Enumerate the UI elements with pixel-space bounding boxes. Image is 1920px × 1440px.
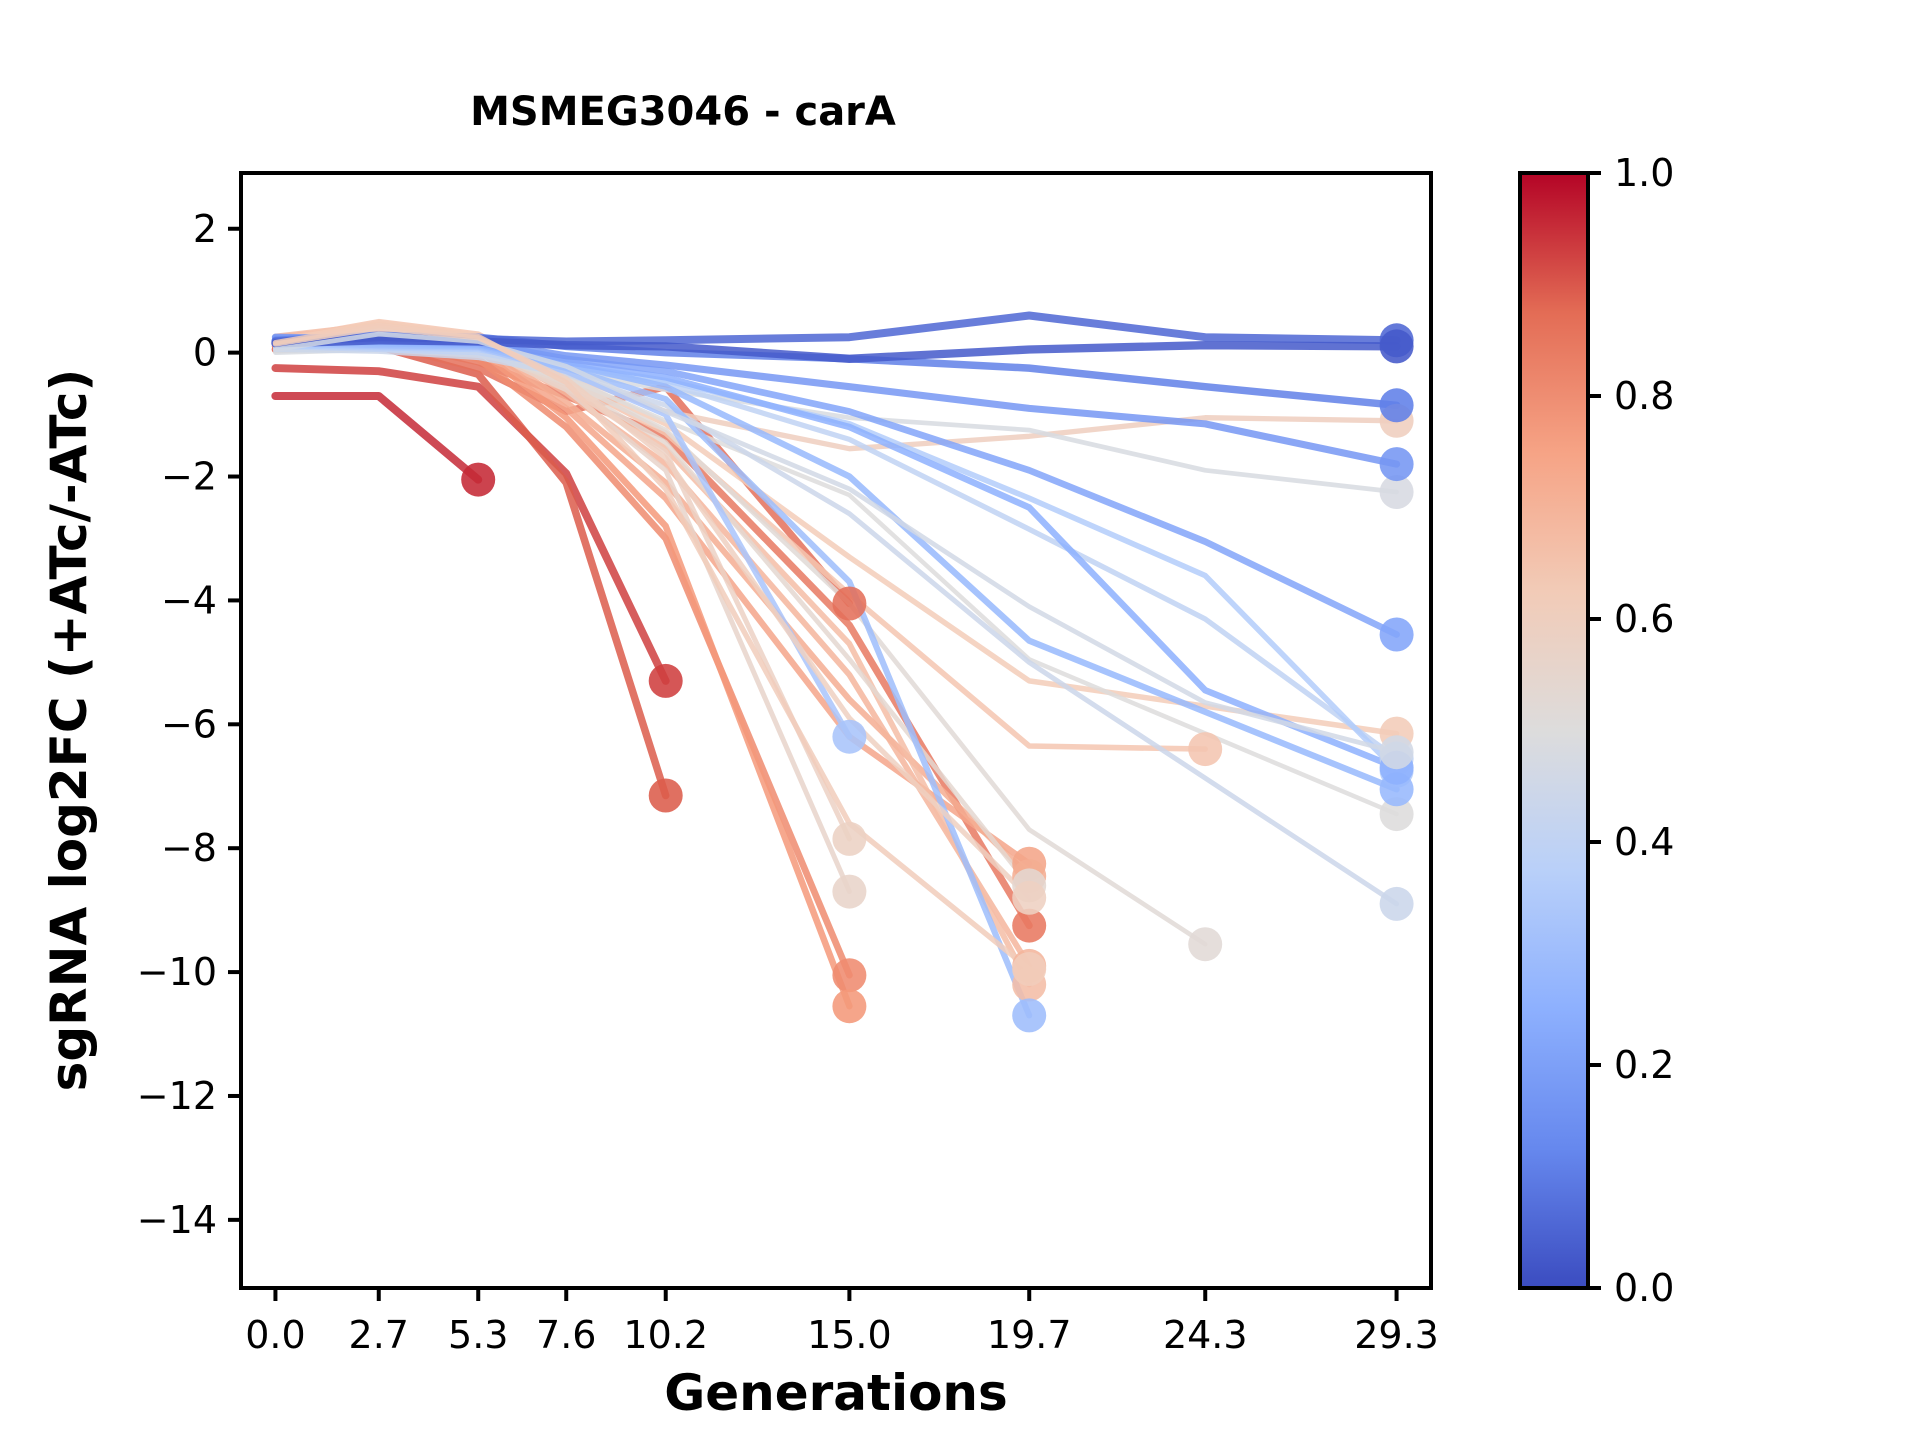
y-tick-label: −2 [161,455,217,499]
x-tick-label: 2.7 [349,1313,409,1357]
series-end-marker [1188,732,1222,766]
y-tick-label: −14 [137,1198,217,1242]
x-tick-label: 10.2 [623,1313,708,1357]
series-end-marker [1380,329,1414,363]
series-end-marker [1012,998,1046,1032]
colorbar-gradient[interactable] [1520,173,1588,1288]
colorbar-tick-label: 0.8 [1614,374,1674,418]
series-end-marker [832,989,866,1023]
x-tick-label: 15.0 [807,1313,892,1357]
series-end-marker [832,875,866,909]
colorbar-tick-label: 0.6 [1614,597,1674,641]
series-end-marker [832,587,866,621]
y-tick-label: −4 [161,578,217,622]
x-tick-label: 24.3 [1163,1313,1248,1357]
colorbar-tick-label: 0.0 [1614,1266,1674,1310]
x-tick-label: 7.6 [536,1313,596,1357]
x-tick-label: 19.7 [987,1313,1072,1357]
y-tick-label: −12 [137,1074,217,1118]
series-end-marker [1012,952,1046,986]
series-end-marker [1380,735,1414,769]
x-tick-label: 0.0 [245,1313,305,1357]
y-tick-label: −10 [137,950,217,994]
series-end-marker [832,958,866,992]
series-end-marker [832,720,866,754]
chart-page: MSMEG3046 - carA 0.02.75.37.610.215.019.… [0,0,1920,1440]
colorbar-tick-label: 1.0 [1614,151,1674,195]
page-title: MSMEG3046 - carA [470,89,896,135]
colorbar-tick-label: 0.4 [1614,820,1674,864]
series-end-marker [1380,887,1414,921]
y-tick-label: −6 [161,702,217,746]
y-axis-label: sgRNA log2FC (+ATc/-ATc) [40,369,98,1092]
series-end-marker [1188,927,1222,961]
series-end-marker [1380,618,1414,652]
line-chart-figure: MSMEG3046 - carA 0.02.75.37.610.215.019.… [0,0,1920,1440]
y-tick-label: −8 [161,826,217,870]
series-end-marker [649,779,683,813]
y-tick-label: 0 [193,331,217,375]
x-tick-label: 29.3 [1354,1313,1439,1357]
series-end-marker [832,822,866,856]
x-tick-label: 5.3 [448,1313,508,1357]
y-tick-label: 2 [193,207,217,251]
x-axis-label: Generations [664,1364,1008,1422]
series-end-marker [1380,447,1414,481]
series-end-marker [1012,881,1046,915]
series-end-marker [1380,388,1414,422]
series-end-marker [461,463,495,497]
colorbar-tick-label: 0.2 [1614,1043,1674,1087]
series-end-marker [649,664,683,698]
